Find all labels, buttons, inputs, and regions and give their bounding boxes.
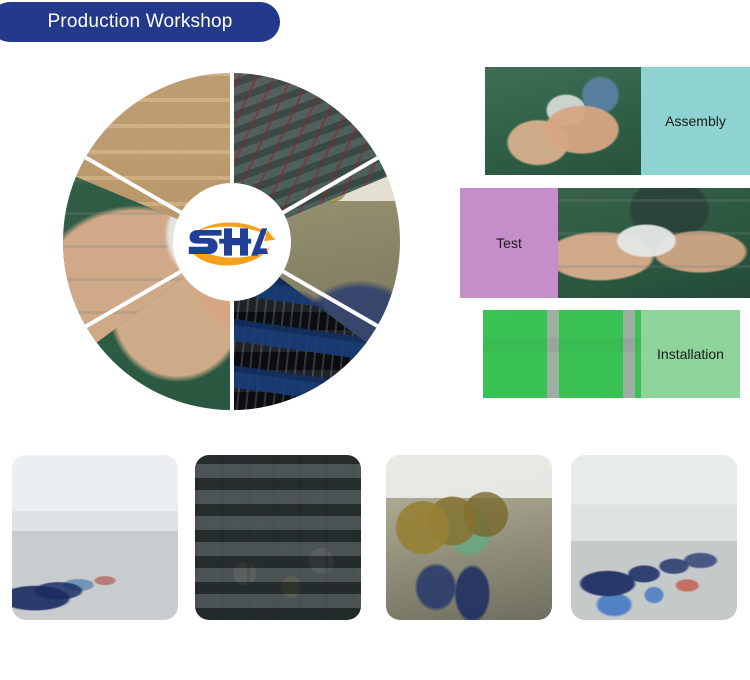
process-block-assembly: Assembly <box>485 67 750 175</box>
sha-logo-icon <box>184 214 280 270</box>
header-banner: Production Workshop <box>0 2 280 42</box>
stamping-presses-photo <box>386 455 552 620</box>
workbench-row-photo <box>571 455 737 620</box>
page-title: Production Workshop <box>37 11 232 33</box>
test-label: Test <box>496 235 522 251</box>
test-label-panel: Test <box>460 188 558 298</box>
installation-photo <box>483 310 641 398</box>
assembly-label: Assembly <box>665 113 726 129</box>
installation-label: Installation <box>657 346 724 362</box>
workshop-assembly-line-photo <box>12 455 178 620</box>
test-photo <box>558 188 750 298</box>
company-logo <box>173 183 291 301</box>
assembly-label-panel: Assembly <box>641 67 750 175</box>
production-circle-collage <box>63 73 400 410</box>
metal-parts-pile-photo <box>195 455 361 620</box>
assembly-photo <box>485 67 641 175</box>
process-block-installation: Installation <box>483 310 740 398</box>
process-block-test: Test <box>460 188 750 298</box>
installation-label-panel: Installation <box>641 310 740 398</box>
